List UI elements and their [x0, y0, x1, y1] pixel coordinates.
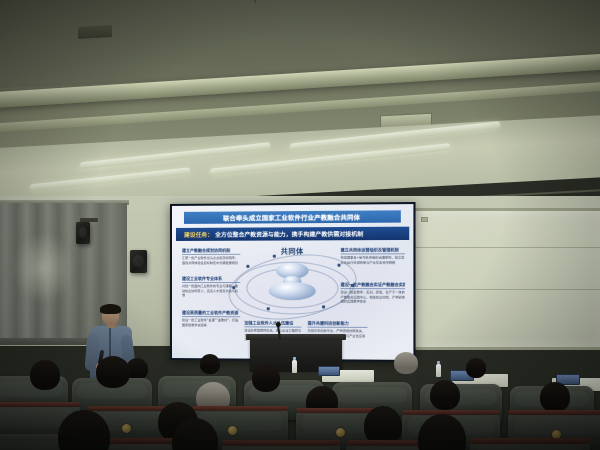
slide-box-2: 建设工业软件专业体系 共建一批面向工业软件的专业与课程，推动校企协同育人，完善人…	[182, 276, 240, 298]
slide-box-6: 建立共同体运营组织及管理机制 构建理事会+秘书处的组织治理架构，建立常态化运行协…	[341, 247, 405, 265]
slide-box-heading: 建设高质量的工业软件产教资源	[182, 310, 240, 315]
audience-area	[0, 352, 600, 450]
seat-rail	[222, 440, 340, 446]
audience-head	[430, 380, 460, 410]
seat-rail	[470, 438, 590, 444]
audience-head	[96, 356, 130, 388]
diagram-node	[322, 305, 325, 308]
slide-box-heading: 建设工业软件专业体系	[182, 276, 240, 281]
seat-rail	[0, 402, 80, 407]
wall-speaker-left	[130, 250, 147, 273]
lecture-hall-photo: 联合牵头成立国家工业软件行业产教融合共同体 建设任务： 全方位整合产教资源与能力…	[0, 0, 600, 450]
slide-box-heading: 提升共建科技创新能力	[308, 321, 368, 326]
slide-box-3: 建设高质量的工业软件产教资源 建设一批工业软件“金课”“金教材”，打造国家级教学…	[182, 310, 240, 327]
presenter-hair	[100, 304, 121, 314]
diagram-node	[246, 265, 249, 268]
diagram-node	[267, 307, 270, 310]
slide-box-7: 建设一批产教融合实证产教融合实践中心 建设一批集教学、实训、研发、生产于一体的产…	[341, 282, 405, 304]
seat-number-badge	[228, 426, 237, 435]
fluorescent-lamp	[30, 167, 190, 191]
slide-title: 联合牵头成立国家工业软件行业产教融合共同体	[184, 210, 401, 224]
slide-subtitle-text: 全方位整合产教资源与能力，携手构建产教供需对接机制	[215, 229, 363, 239]
water-bottle	[436, 364, 441, 377]
slide-subtitle-bar: 建设任务： 全方位整合产教资源与能力，携手构建产教供需对接机制	[176, 227, 409, 241]
audience-head	[466, 358, 486, 378]
curtain-light-glow	[12, 232, 74, 304]
slide-box-1: 建立产教融合规划协同机制 汇聚一批产业软件龙头企业和高校院所，围绕共同体建设目标…	[182, 248, 240, 265]
slide-box-heading: 加强工业软件人才队伍建设	[244, 320, 301, 325]
audience-head	[30, 360, 60, 390]
slide-subtitle-tag: 建设任务：	[184, 230, 213, 239]
core-disc-base	[269, 282, 316, 300]
slide-box-heading: 建立共同体运营组织及管理机制	[341, 247, 405, 252]
slide-box-body: 共建一批面向工业软件的专业与课程，推动校企协同育人，完善人才培养方案与标准	[182, 284, 240, 298]
seat-number-badge	[122, 424, 131, 433]
laptop	[318, 366, 340, 376]
slide-box-heading: 建设一批产教融合实证产教融合实践中心	[341, 282, 405, 287]
ceiling-vent	[78, 25, 112, 39]
slide-box-body: 汇聚一批产业软件龙头企业和高校院所，围绕共同体建设目标制定中长期发展规划	[182, 256, 240, 265]
slide-box-heading: 建立产教融合规划协同机制	[182, 248, 240, 253]
audience-head	[252, 364, 280, 392]
whiteboard-clip	[421, 217, 428, 222]
audience-head	[200, 354, 220, 374]
seat-number-badge	[336, 428, 345, 437]
whiteboard	[410, 208, 600, 350]
slide-box-body: 构建理事会+秘书处的组织治理架构，建立常态化运行协调机制与产业生态合作网络	[341, 256, 405, 265]
ceiling-camera-icon	[76, 222, 90, 244]
slide-box-body: 建设一批工业软件“金课”“金教材”，打造国家级教学资源库	[182, 318, 240, 327]
seat-rail	[508, 410, 600, 415]
seat-rail	[402, 410, 500, 415]
water-bottle	[292, 360, 297, 373]
audience-head	[394, 352, 418, 374]
diagram-node	[273, 255, 276, 258]
seat-rail	[192, 406, 288, 411]
lectern-top	[246, 334, 346, 340]
audience-head	[540, 382, 570, 412]
slide-box-body: 建设一批集教学、实训、研发、生产于一体的产教融合实践中心，构建校企协同、产学研贯…	[341, 290, 405, 304]
